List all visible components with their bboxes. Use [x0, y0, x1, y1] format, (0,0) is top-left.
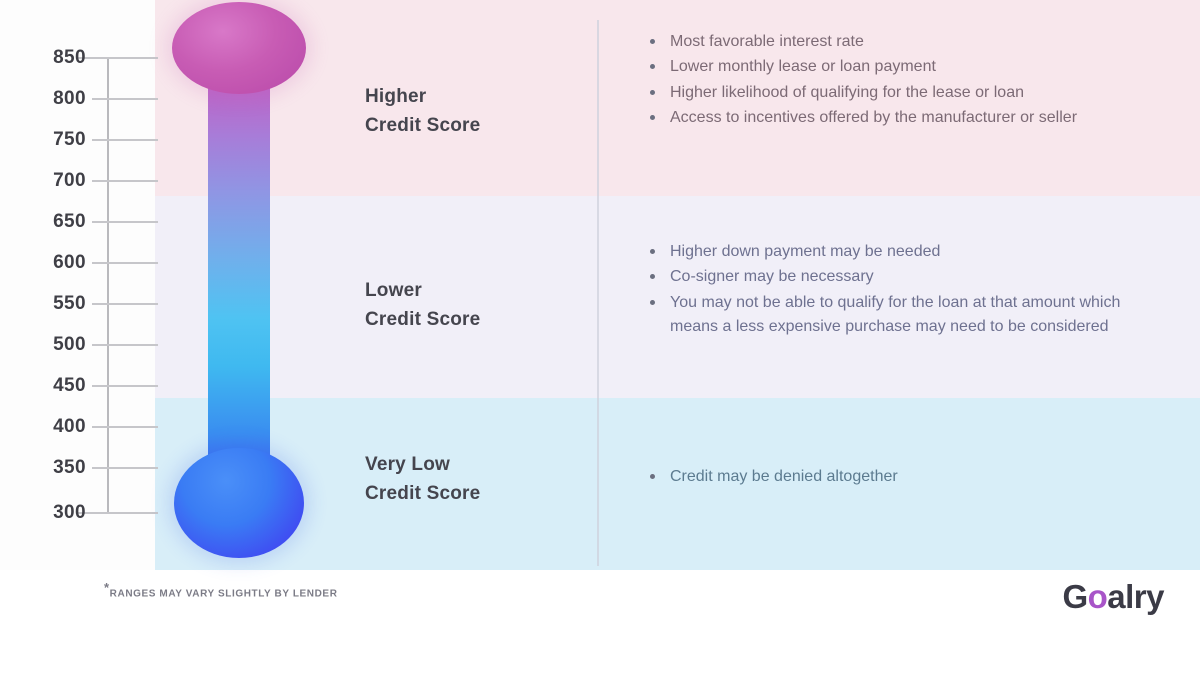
axis-tick-mark [78, 512, 158, 514]
list-item: Most favorable interest rate [648, 30, 1168, 54]
axis-rule [107, 58, 109, 514]
axis-tick-mark [92, 139, 158, 141]
logo-prefix: G [1062, 578, 1087, 615]
thermometer-graphic [160, 0, 330, 575]
list-item: Credit may be denied altogether [648, 465, 1168, 489]
credit-score-axis: 850 800 750 700 650 600 550 500 [0, 30, 180, 535]
section-divider [597, 20, 599, 566]
section-title-higher-credit-score: Higher Credit Score [365, 82, 585, 141]
axis-tick-label: 400 [0, 417, 86, 436]
thermometer-top-bulb [172, 2, 306, 94]
consequences-list-very-low-credit-score: Credit may be denied altogether [648, 465, 1168, 490]
credit-score-thermometer-infographic: 850 800 750 700 650 600 550 500 [0, 0, 1200, 675]
section-title-line-2: Credit Score [365, 305, 585, 334]
axis-tick-label: 350 [0, 458, 86, 477]
axis-tick-label: 700 [0, 171, 86, 190]
list-item: Higher likelihood of qualifying for the … [648, 81, 1168, 105]
list-item: Access to incentives offered by the manu… [648, 106, 1168, 130]
section-title-line-1: Higher [365, 82, 585, 111]
axis-tick-label: 850 [0, 48, 86, 67]
footnote-text: Ranges may vary slightly by lender [110, 588, 338, 599]
axis-tick-mark [92, 180, 158, 182]
axis-tick-mark [92, 385, 158, 387]
section-title-line-1: Very Low [365, 450, 585, 479]
axis-tick-mark [92, 426, 158, 428]
considerations-list-lower-credit-score: Higher down payment may be needed Co-sig… [648, 240, 1168, 340]
section-title-line-1: Lower [365, 276, 585, 305]
section-title-line-2: Credit Score [365, 111, 585, 140]
axis-tick-mark [92, 467, 158, 469]
footnote: *Ranges may vary slightly by lender [104, 580, 338, 599]
axis-tick-label: 800 [0, 89, 86, 108]
axis-tick-mark [78, 57, 158, 59]
list-item: Co-signer may be necessary [648, 265, 1168, 289]
list-item: Lower monthly lease or loan payment [648, 55, 1168, 79]
axis-tick-label: 500 [0, 335, 86, 354]
axis-tick-mark [92, 344, 158, 346]
axis-tick-label: 650 [0, 212, 86, 231]
axis-tick-mark [92, 262, 158, 264]
axis-tick-label: 450 [0, 376, 86, 395]
axis-tick-mark [92, 98, 158, 100]
axis-tick-mark [92, 303, 158, 305]
axis-tick-mark [92, 221, 158, 223]
axis-tick-label: 600 [0, 253, 86, 272]
section-title-lower-credit-score: Lower Credit Score [365, 276, 585, 335]
benefits-list-higher-credit-score: Most favorable interest rate Lower month… [648, 30, 1168, 131]
logo-suffix: alry [1107, 578, 1164, 615]
axis-tick-label: 750 [0, 130, 86, 149]
thermometer-bottom-bulb [174, 448, 304, 558]
section-title-line-2: Credit Score [365, 479, 585, 508]
list-item: Higher down payment may be needed [648, 240, 1168, 264]
logo-accent-letter: o [1088, 578, 1108, 615]
goalry-logo: Goalry [1062, 578, 1164, 616]
axis-tick-label: 550 [0, 294, 86, 313]
axis-tick-label: 300 [0, 503, 86, 522]
thermometer-stem [208, 30, 270, 510]
section-title-very-low-credit-score: Very Low Credit Score [365, 450, 585, 509]
list-item: You may not be able to qualify for the l… [648, 291, 1168, 340]
